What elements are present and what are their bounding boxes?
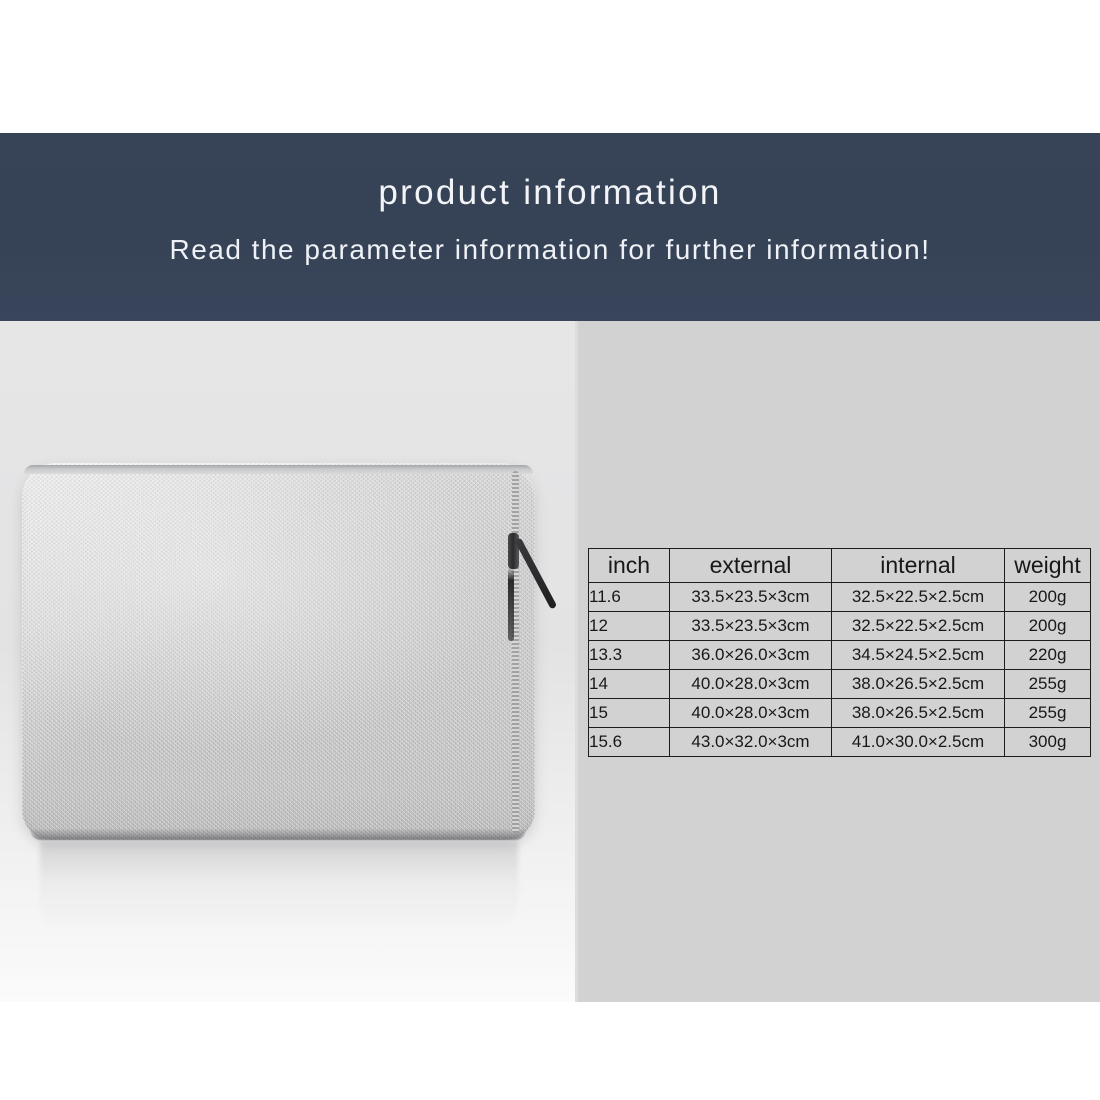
table-row: 11.6 33.5×23.5×3cm 32.5×22.5×2.5cm 200g xyxy=(589,583,1091,612)
cell-inch: 11.6 xyxy=(589,583,670,612)
cell-weight: 255g xyxy=(1005,699,1091,728)
table-row: 15.6 43.0×32.0×3cm 41.0×30.0×2.5cm 300g xyxy=(589,728,1091,757)
cell-external: 36.0×26.0×3cm xyxy=(670,641,832,670)
cell-inch: 15 xyxy=(589,699,670,728)
table-row: 13.3 36.0×26.0×3cm 34.5×24.5×2.5cm 220g xyxy=(589,641,1091,670)
zipper-track xyxy=(512,471,519,833)
table-row: 15 40.0×28.0×3cm 38.0×26.5×2.5cm 255g xyxy=(589,699,1091,728)
product-information-page: product information Read the parameter i… xyxy=(0,0,1100,1100)
table-row: 12 33.5×23.5×3cm 32.5×22.5×2.5cm 200g xyxy=(589,612,1091,641)
cell-inch: 13.3 xyxy=(589,641,670,670)
table-row: 14 40.0×28.0×3cm 38.0×26.5×2.5cm 255g xyxy=(589,670,1091,699)
content-area: inch external internal weight 11.6 33.5×… xyxy=(0,321,1100,1002)
cell-inch: 12 xyxy=(589,612,670,641)
zipper-pull-tail xyxy=(508,567,514,641)
cell-weight: 200g xyxy=(1005,583,1091,612)
cell-inch: 14 xyxy=(589,670,670,699)
cell-internal: 32.5×22.5×2.5cm xyxy=(832,583,1005,612)
cell-weight: 200g xyxy=(1005,612,1091,641)
page-title: product information xyxy=(0,173,1100,213)
cell-external: 40.0×28.0×3cm xyxy=(670,699,832,728)
sleeve-reflection xyxy=(40,841,518,933)
cell-internal: 32.5×22.5×2.5cm xyxy=(832,612,1005,641)
cell-external: 43.0×32.0×3cm xyxy=(670,728,832,757)
cell-internal: 38.0×26.5×2.5cm xyxy=(832,699,1005,728)
cell-weight: 300g xyxy=(1005,728,1091,757)
product-image-panel xyxy=(0,321,578,1002)
column-header-internal: internal xyxy=(832,549,1005,583)
column-header-weight: weight xyxy=(1005,549,1091,583)
cell-internal: 38.0×26.5×2.5cm xyxy=(832,670,1005,699)
specification-table: inch external internal weight 11.6 33.5×… xyxy=(588,548,1091,757)
cell-inch: 15.6 xyxy=(589,728,670,757)
laptop-sleeve-body xyxy=(22,463,535,840)
sleeve-top-seam xyxy=(24,465,533,474)
page-subtitle: Read the parameter information for furth… xyxy=(0,233,1100,267)
sleeve-bottom-seam xyxy=(30,829,526,840)
cell-weight: 220g xyxy=(1005,641,1091,670)
header-banner: product information Read the parameter i… xyxy=(0,133,1100,321)
table-header-row: inch external internal weight xyxy=(589,549,1091,583)
column-header-external: external xyxy=(670,549,832,583)
cell-weight: 255g xyxy=(1005,670,1091,699)
product-photo-stage xyxy=(0,321,578,1002)
spec-table-container: inch external internal weight 11.6 33.5×… xyxy=(588,548,1090,757)
cell-external: 40.0×28.0×3cm xyxy=(670,670,832,699)
column-header-inch: inch xyxy=(589,549,670,583)
cell-external: 33.5×23.5×3cm xyxy=(670,583,832,612)
cell-internal: 34.5×24.5×2.5cm xyxy=(832,641,1005,670)
cell-external: 33.5×23.5×3cm xyxy=(670,612,832,641)
cell-internal: 41.0×30.0×2.5cm xyxy=(832,728,1005,757)
